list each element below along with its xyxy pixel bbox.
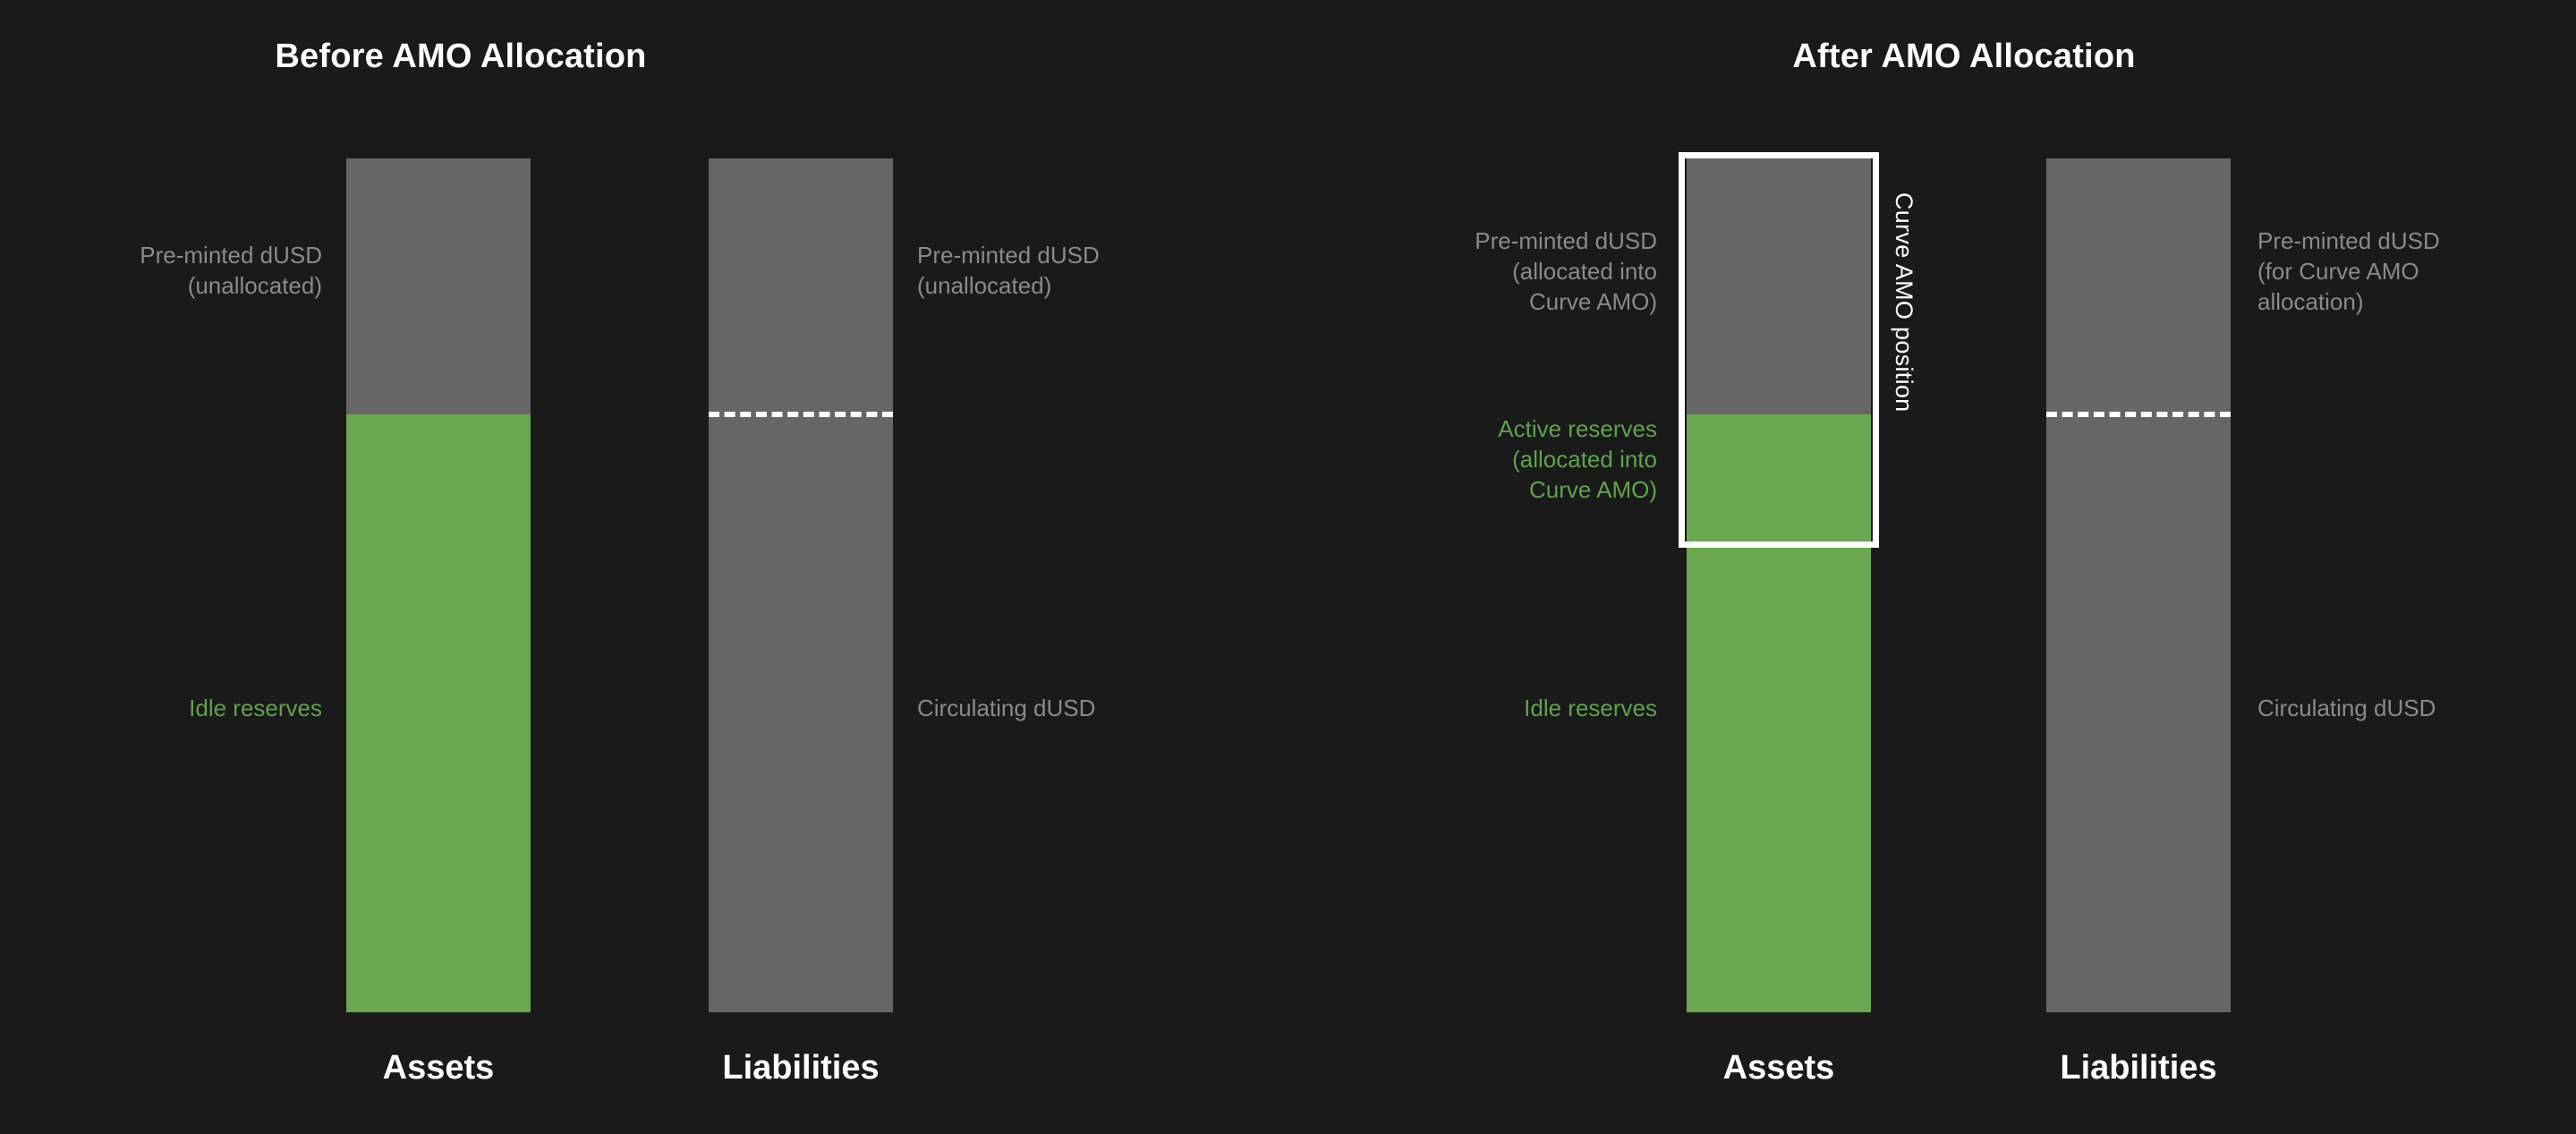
segment-before-assets-preminted: [346, 158, 531, 414]
diagram-canvas: Before AMO Allocation Pre-minted dUSD (u…: [0, 0, 2576, 1134]
panel-title-before: Before AMO Allocation: [188, 38, 734, 76]
segment-after-liabilities-total: [2046, 158, 2231, 1012]
axis-label-before-assets: Assets: [304, 1049, 573, 1087]
label-after-assets-idle-reserves: Idle reserves: [1342, 693, 1657, 723]
label-after-liabilities-circulating: Circulating dUSD: [2257, 693, 2576, 723]
dashed-divider-after-liabilities: [2046, 412, 2231, 417]
bar-before-liabilities: [709, 158, 893, 1012]
bar-before-assets: [346, 158, 531, 1012]
segment-before-assets-idle-reserves: [346, 414, 531, 1012]
panel-title-after: After AMO Allocation: [1691, 38, 2237, 76]
label-curve-amo-position: Curve AMO position: [1890, 192, 1917, 413]
label-before-assets-idle-reserves: Idle reserves: [0, 693, 322, 723]
axis-label-after-liabilities: Liabilities: [2004, 1049, 2273, 1087]
bar-after-liabilities: [2046, 158, 2231, 1012]
segment-after-assets-preminted: [1687, 158, 1871, 414]
label-after-assets-preminted: Pre-minted dUSD (allocated into Curve AM…: [1342, 226, 1657, 317]
label-before-assets-preminted: Pre-minted dUSD (unallocated): [0, 240, 322, 301]
axis-label-after-assets: Assets: [1645, 1049, 1913, 1087]
segment-before-liabilities-total: [709, 158, 893, 1012]
label-before-liabilities-circulating: Circulating dUSD: [917, 693, 1275, 723]
axis-label-before-liabilities: Liabilities: [667, 1049, 935, 1087]
dashed-divider-before-liabilities: [709, 412, 893, 417]
segment-after-assets-active-reserves: [1687, 414, 1871, 1012]
label-after-liabilities-preminted: Pre-minted dUSD (for Curve AMO allocatio…: [2257, 226, 2576, 317]
bar-after-assets: [1687, 158, 1871, 1012]
label-after-assets-active-reserves: Active reserves (allocated into Curve AM…: [1342, 414, 1657, 505]
label-before-liabilities-preminted: Pre-minted dUSD (unallocated): [917, 240, 1275, 301]
